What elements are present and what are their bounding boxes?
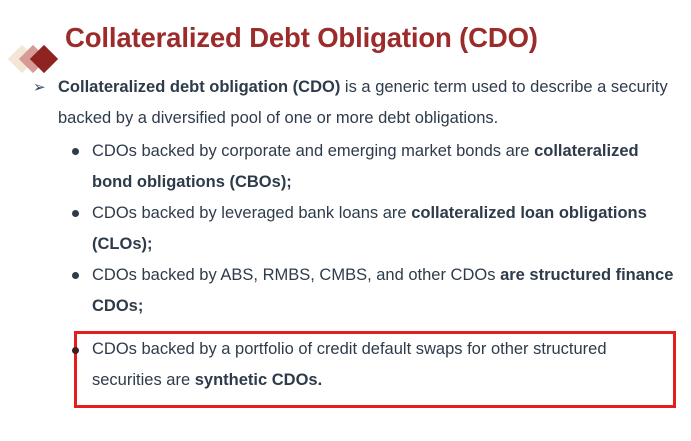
synthetic-cdo-plain-text: CDOs backed by a portfolio of credit def… [92, 340, 607, 389]
synthetic-cdo-bold-text: synthetic CDOs. [195, 371, 322, 389]
list-item-level1: ➢Collateralized debt obligation (CDO) is… [0, 72, 691, 134]
slide-header: Collateralized Debt Obligation (CDO) [0, 18, 691, 64]
dot-bullet-icon [72, 347, 79, 354]
dot-bullet-icon [72, 210, 79, 217]
slide-root: Collateralized Debt Obligation (CDO) ➢Co… [0, 0, 691, 441]
list-item-synthetic-cdo: CDOs backed by a portfolio of credit def… [74, 334, 680, 396]
level1-bold-lead: Collateralized debt obligation (CDO) [58, 78, 340, 96]
cbo-plain-text: CDOs backed by corporate and emerging ma… [92, 142, 534, 160]
dot-bullet-icon [72, 148, 79, 155]
list-item-cbo: CDOs backed by corporate and emerging ma… [0, 136, 691, 198]
clo-plain-text: CDOs backed by leveraged bank loans are [92, 204, 411, 222]
list-item-clo: CDOs backed by leveraged bank loans are … [0, 198, 691, 260]
dot-bullet-icon [72, 272, 79, 279]
three-diamonds-icon [12, 45, 60, 75]
page-title: Collateralized Debt Obligation (CDO) [65, 18, 538, 58]
structured-finance-plain-text: CDOs backed by ABS, RMBS, CMBS, and othe… [92, 266, 500, 284]
list-item-structured-finance: CDOs backed by ABS, RMBS, CMBS, and othe… [0, 260, 691, 322]
arrow-bullet-icon: ➢ [33, 72, 46, 103]
content-list: ➢Collateralized debt obligation (CDO) is… [0, 72, 691, 322]
